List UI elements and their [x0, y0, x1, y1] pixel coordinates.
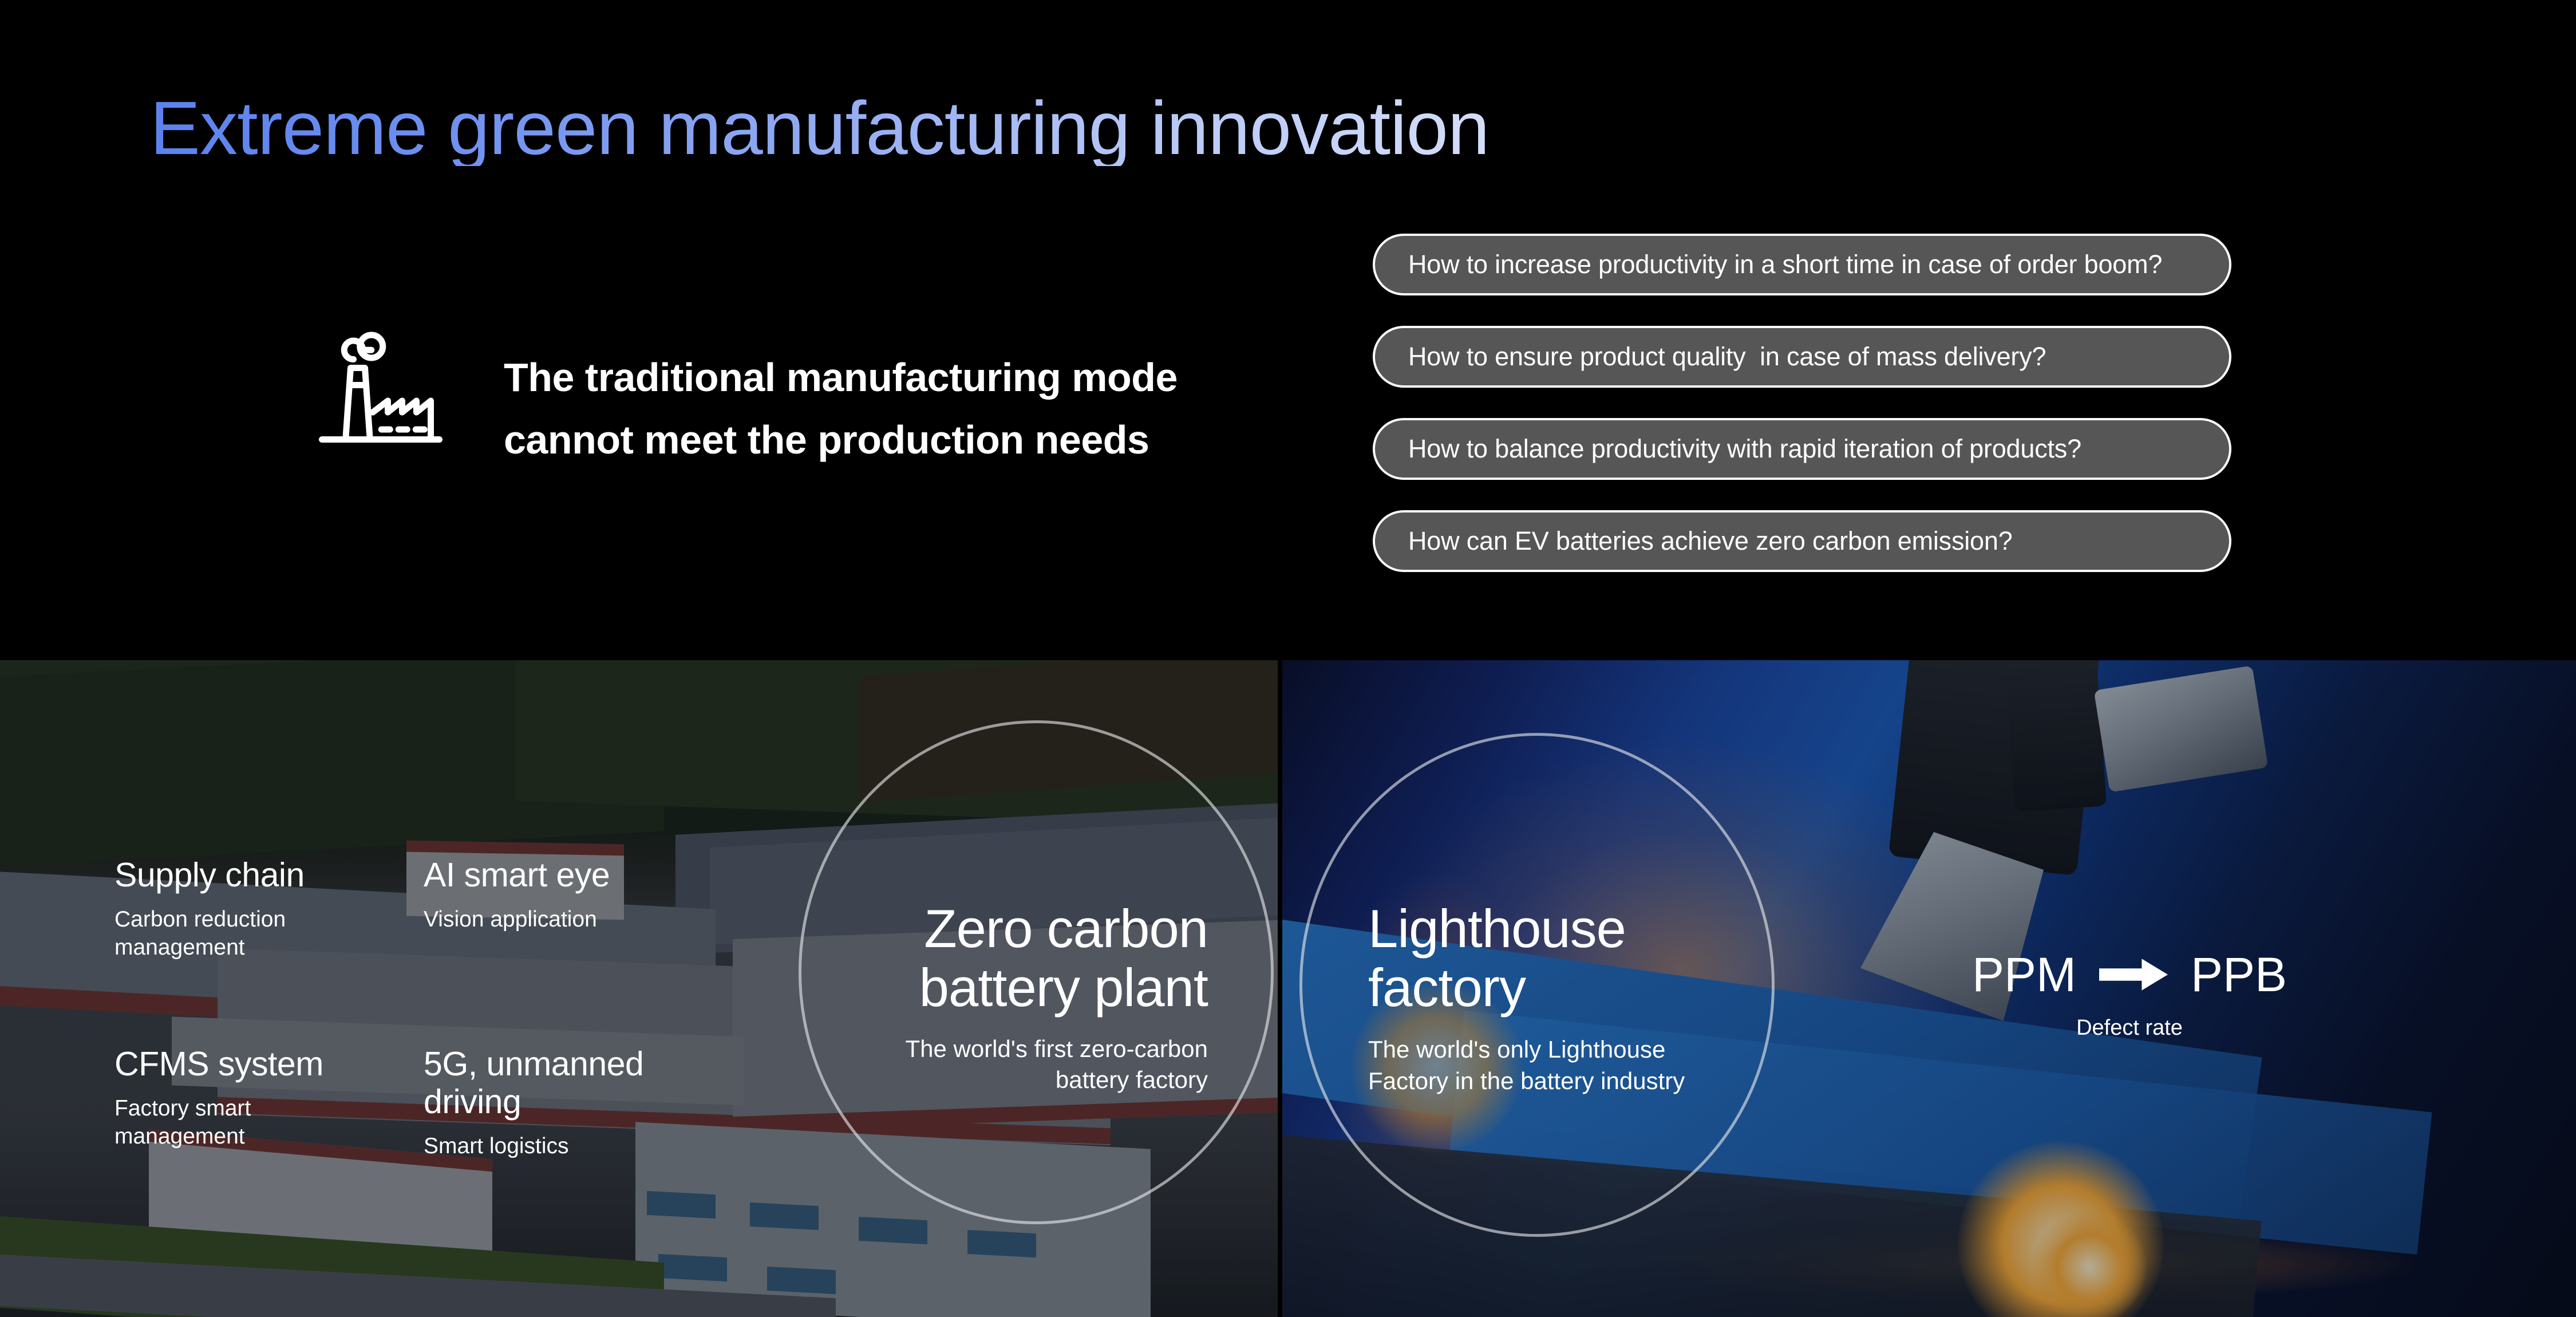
feature-title: 5G, unmanned driving: [424, 1045, 643, 1121]
question-list: How to increase productivity in a short …: [1373, 234, 2231, 572]
defect-rate-label: Defect rate: [1912, 1016, 2347, 1040]
feature-subtitle: Smart logistics: [424, 1132, 643, 1160]
highlight-subtitle: The world's first zero-carbon battery fa…: [738, 1034, 1208, 1095]
feature-ai-smart-eye: AI smart eye Vision application: [424, 856, 610, 933]
arrow-right-icon: [2099, 957, 2168, 992]
highlight-lighthouse-factory: Lighthouse factory The world's only Ligh…: [1368, 899, 1883, 1097]
question-pill[interactable]: How to ensure product quality in case of…: [1373, 326, 2231, 388]
feature-supply-chain: Supply chain Carbon reduction management: [114, 856, 305, 961]
factory-icon: [309, 312, 452, 455]
defect-rate-stat: PPM PPB Defect rate: [1912, 951, 2347, 1040]
highlight-zero-carbon-battery-plant: Zero carbon battery plant The world's fi…: [738, 899, 1208, 1095]
problem-statement: The traditional manufacturing mode canno…: [504, 346, 1248, 471]
question-pill[interactable]: How can EV batteries achieve zero carbon…: [1373, 510, 2231, 572]
highlight-title: Lighthouse factory: [1368, 899, 1883, 1018]
page-title: Extreme green manufacturing innovation: [150, 90, 1489, 166]
problem-statement-line-2: cannot meet the production needs: [504, 409, 1248, 471]
feature-subtitle: Vision application: [424, 905, 610, 933]
defect-rate-to: PPB: [2191, 951, 2287, 999]
feature-subtitle: Carbon reduction management: [114, 905, 305, 961]
feature-title: CFMS system: [114, 1045, 323, 1083]
highlight-title: Zero carbon battery plant: [738, 899, 1208, 1018]
question-pill[interactable]: How to balance productivity with rapid i…: [1373, 418, 2231, 480]
feature-5g-unmanned-driving: 5G, unmanned driving Smart logistics: [424, 1045, 643, 1160]
question-pill[interactable]: How to increase productivity in a short …: [1373, 234, 2231, 295]
highlight-subtitle: The world's only Lighthouse Factory in t…: [1368, 1034, 1883, 1097]
photo-section: Supply chain Carbon reduction management…: [0, 660, 2576, 1317]
feature-subtitle: Factory smart management: [114, 1094, 323, 1150]
defect-rate-from: PPM: [1972, 951, 2076, 999]
defect-rate-row: PPM PPB: [1912, 951, 2347, 999]
top-dark-section: Extreme green manufacturing innovation T…: [0, 0, 2576, 660]
feature-title: Supply chain: [114, 856, 305, 894]
feature-title: AI smart eye: [424, 856, 610, 894]
problem-statement-line-1: The traditional manufacturing mode: [504, 346, 1248, 409]
welding-closeup-photo: Lighthouse factory The world's only Ligh…: [1282, 660, 2576, 1317]
aerial-factory-photo: Supply chain Carbon reduction management…: [0, 660, 1278, 1317]
feature-cfms-system: CFMS system Factory smart management: [114, 1045, 323, 1150]
